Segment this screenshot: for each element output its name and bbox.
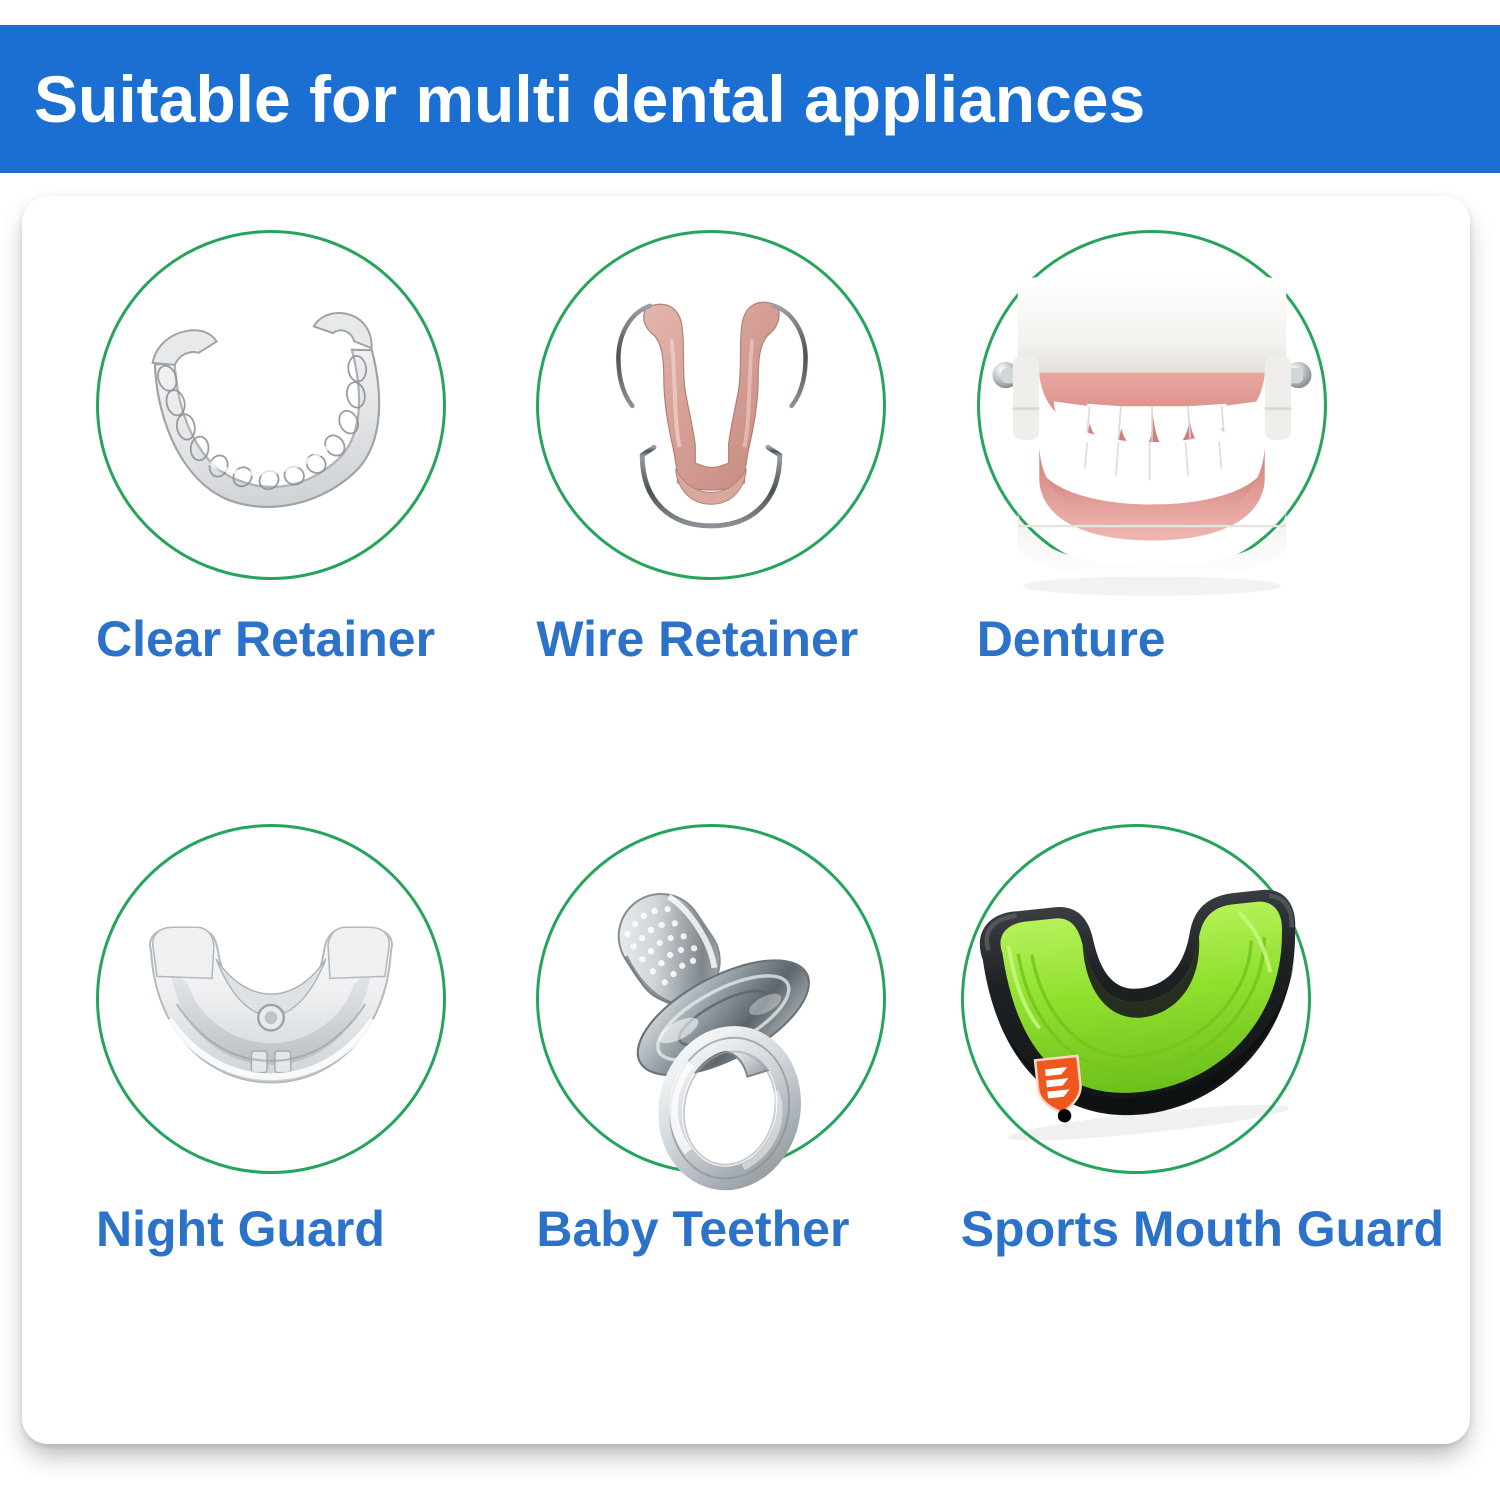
- appliance-item-baby-teether[interactable]: Baby Teether: [502, 824, 956, 1418]
- clear-aligner-tray-icon: [99, 233, 443, 577]
- appliance-label: Clear Retainer: [96, 614, 435, 664]
- appliance-label: Baby Teether: [536, 1204, 849, 1254]
- appliance-item-denture[interactable]: Denture: [957, 230, 1444, 824]
- appliance-label: Denture: [977, 614, 1166, 664]
- appliance-item-night-guard[interactable]: Night Guard: [48, 824, 502, 1418]
- appliance-label: Sports Mouth Guard: [961, 1204, 1444, 1254]
- content-card: Clear Retainer: [22, 196, 1470, 1444]
- appliance-grid: Clear Retainer: [22, 196, 1470, 1444]
- night-guard-icon: [99, 827, 443, 1171]
- appliance-circle: [536, 230, 886, 580]
- appliance-circle: [977, 230, 1327, 580]
- page-title: Suitable for multi dental appliances: [34, 66, 1145, 132]
- baby-pacifier-icon: [539, 827, 883, 1171]
- appliance-item-wire-retainer[interactable]: Wire Retainer: [502, 230, 956, 824]
- denture-model-icon: [980, 233, 1324, 577]
- appliance-circle: [536, 824, 886, 1174]
- appliance-item-clear-retainer[interactable]: Clear Retainer: [48, 230, 502, 824]
- wire-retainer-icon: [539, 233, 883, 577]
- appliance-label: Night Guard: [96, 1204, 385, 1254]
- sports-mouth-guard-icon: [964, 827, 1308, 1171]
- appliance-circle: [96, 230, 446, 580]
- appliance-circle: [961, 824, 1311, 1174]
- appliance-item-sports-mouth-guard[interactable]: Sports Mouth Guard: [957, 824, 1444, 1418]
- appliance-circle: [96, 824, 446, 1174]
- appliance-label: Wire Retainer: [536, 614, 858, 664]
- header-banner: Suitable for multi dental appliances: [0, 25, 1500, 173]
